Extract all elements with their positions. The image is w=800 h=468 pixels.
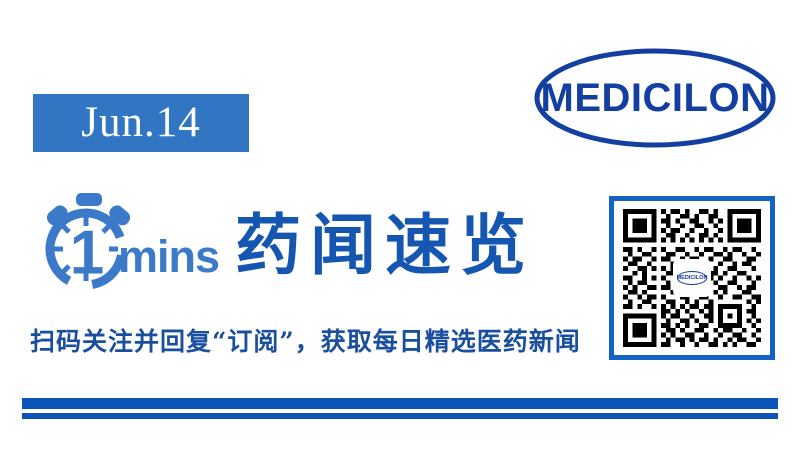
qr-code-frame[interactable]: MEDICILON <box>609 196 775 360</box>
mins-label: mins <box>118 234 219 279</box>
footer-rule-thin <box>22 413 778 419</box>
subtitle-text: 扫码关注并回复“订阅”，获取每日精选医药新闻 <box>30 326 590 357</box>
footer-rule-thick <box>22 398 778 409</box>
headline-title: 药闻速览 <box>235 212 535 278</box>
stopwatch-digit: 1 <box>70 218 104 287</box>
svg-text:MEDICILON: MEDICILON <box>677 275 708 281</box>
svg-text:MEDICILON: MEDICILON <box>541 76 770 120</box>
date-badge-label: Jun.14 <box>81 101 200 144</box>
date-badge: Jun.14 <box>33 94 249 152</box>
poster-canvas: Jun.14 MEDICILON <box>0 0 800 468</box>
medicilon-logo: MEDICILON <box>533 46 777 150</box>
qr-center-logo: MEDICILON <box>673 259 711 297</box>
qr-code-image[interactable]: MEDICILON <box>622 209 762 347</box>
headline-row: 1 mins 药闻速览 <box>36 190 535 295</box>
